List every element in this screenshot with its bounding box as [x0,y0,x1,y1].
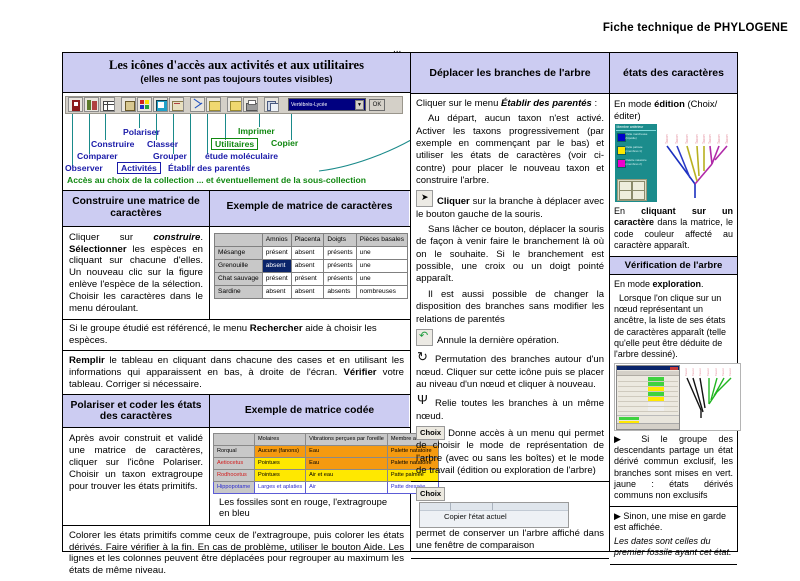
label-etablir-parentes: Établir des parentés [168,163,250,173]
svg-text:Taxon: Taxon [725,135,729,145]
table-row[interactable]: Chat sauvage présent présent présents un… [215,273,408,286]
matrix-cell[interactable]: une [356,246,407,259]
table-header-row: Amnios Placenta Doigts Pièces basales [215,233,408,246]
character-legend-panel: Membre antérieur Patte marcheuse (bipédi… [615,124,657,202]
matrix-cell[interactable]: une [356,260,407,273]
label-copier: Copier [271,138,298,148]
legend-swatch-0 [617,133,626,142]
chevron-down-icon[interactable]: ▼ [355,100,364,110]
leader-moleculaire [207,114,208,154]
toolbar-separator-3 [222,98,226,112]
remplir-bold: Remplir [69,355,105,366]
matrix-row-name: Chat sauvage [215,273,263,286]
grouper-icon[interactable] [169,97,184,112]
copier-etat-menu-item[interactable]: Copier l'état actuel [444,512,507,522]
etablir-menu-name: Établir des parentés [501,98,592,109]
coded-cell[interactable]: Pointues [255,458,306,470]
polariser-header-row: Polariser et coder les états des caractè… [63,395,410,428]
mise-en-garde-paragraph: ▶ Sinon, une mise en garde est affichée. [614,511,733,533]
leader-polariser [139,114,140,128]
coded-matrix-table[interactable]: Molaires Vibrations perçues par l'oreill… [213,433,439,493]
matrix-row-name: Mésange [215,246,263,259]
construire-text-2: . [200,232,203,243]
imprimer-icon[interactable] [243,97,258,112]
construire-text-1: Cliquer sur [69,232,153,243]
ok-button[interactable]: OK [369,99,385,111]
cursor-arrow-icon: ➤ [416,190,433,207]
label-imprimer: Imprimer [238,126,275,136]
relier-paragraph: ΨRelie toutes les branches à un même nœu… [416,394,604,423]
toolbar-dropdown-arrow-2[interactable] [280,98,284,112]
polariser-body-row: Après avoir construit et validé une matr… [63,428,410,526]
toolbar-separator [116,98,120,112]
label-polariser: Polariser [123,127,160,137]
legend-swatch-1 [617,146,626,155]
matrix-cell[interactable]: nombreuses [356,286,407,299]
edition-text-a: En mode [614,98,654,109]
construire-bold-selectionner: Sélectionner [69,244,127,255]
coded-row-name: Rodhocetus [214,470,255,482]
remplir-note-row: Remplir le tableau en cliquant dans chac… [63,351,410,395]
exploration-mode-line: En mode exploration. [614,279,733,290]
svg-text:Taxon: Taxon [702,135,706,145]
permutation-text: Permutation des branches autour d'un nœu… [416,354,604,390]
exploration-text-c: . [701,279,704,289]
svg-text:Taxon: Taxon [685,135,689,145]
fiche-technique-page: Fiche technique de PHYLOGENE ... Les icô… [0,0,800,566]
coded-col-2: Vibrations perçues par l'oreille [306,434,388,446]
left-header-line2: (elles ne sont pas toujours toutes visib… [67,74,406,86]
character-matrix-table[interactable]: Amnios Placenta Doigts Pièces basales Mé… [214,233,408,300]
copier-etat-screenshot[interactable]: Copier l'état actuel [419,502,569,528]
edition-bold: édition [654,98,685,109]
matrix-cell[interactable]: absents [324,286,356,299]
construire-body-row: Cliquer sur construire. Sélectionner les… [63,227,410,321]
verification-block: En mode exploration. Lorsque l'on clique… [610,275,737,506]
matrix-cell[interactable]: présent [262,246,291,259]
legend-swatch-2 [617,159,626,168]
undo-arrow-icon[interactable]: ↶ [416,329,433,346]
svg-text:Taxon: Taxon [691,368,695,376]
right-column-header: états des caractères [610,53,737,94]
toolbar-separator-2 [185,98,189,112]
matrix-col-1: Amnios [262,233,291,246]
etablir-text-a: Cliquer sur le menu [416,98,501,109]
mise-en-garde-block: ▶ Sinon, une mise en garde est affichée.… [610,507,737,564]
leader-copier [291,114,292,140]
construire-icon[interactable] [100,97,115,112]
coded-cell[interactable]: Pointues [255,470,306,482]
comparer-icon[interactable] [84,97,99,112]
classer-icon[interactable] [153,97,168,112]
toolbar-illustration: Vertébrés-Lycée ▼ OK ◥ Polarise [63,93,410,191]
label-construire: Construire [91,139,134,149]
verification-header: Vérification de l'arbre [610,256,737,275]
menu-bar-strip [420,503,568,511]
coded-cell[interactable]: Eau [306,446,388,458]
exploration-text-a: En mode [614,279,653,289]
matrix-cell[interactable]: présent [291,273,324,286]
coded-col-1: Molaires [255,434,306,446]
svg-text:Taxon: Taxon [684,368,688,376]
svg-text:Taxon: Taxon [728,368,732,376]
svg-text:Taxon: Taxon [698,368,702,376]
copier-etat-paragraph: Choix Copier l'état actuel permet de con… [416,487,604,552]
cliquer-branche-paragraph: ➤Cliquer sur la branche à déplacer avec … [416,190,604,221]
column-right: états des caractères En mode édition (Ch… [610,53,737,551]
relier-text: Relie toutes les branches à un même nœud… [416,398,604,421]
middle-divider-2 [411,558,609,559]
phylogene-toolbar[interactable]: Vertébrés-Lycée ▼ OK [65,96,403,114]
legend-title: Membre antérieur [617,125,644,129]
matrix-row-name: Grenouille [215,260,263,273]
polariser-prep-icon[interactable] [121,97,136,112]
matrix-col-3: Doigts [324,233,356,246]
leader-utilitaires [225,114,226,140]
colorer-instructions: Colorer les états primitifs comme ceux d… [63,526,410,581]
permutation-paragraph: ↻Permutation des branches autour d'un nœ… [416,350,604,391]
click-character-paragraph: En cliquant sur un caractère dans la mat… [614,206,733,251]
noeud-ancetre-paragraph: Lorsque l'on clique sur un nœud représen… [614,293,733,360]
leader-construire [105,114,106,140]
polariser-instructions: Après avoir construit et validé une matr… [63,428,210,525]
matrix-cell[interactable]: présents [324,246,356,259]
click-text-a: En [614,206,641,216]
label-comparer: Comparer [77,151,118,161]
etude-moleculaire-icon[interactable] [206,97,221,112]
svg-text:Taxon: Taxon [675,135,679,145]
table-row[interactable]: Grenouille absent absent présents une [215,260,408,273]
svg-text:Taxon: Taxon [717,135,721,145]
label-utilitaires: Utilitaires [211,138,258,150]
legend-label-2: Palette natatoire (membres 2) [626,159,654,166]
collection-combobox[interactable]: Vertébrés-Lycée ▼ [288,98,366,111]
matrix-col-0 [215,233,263,246]
choix-button-2[interactable]: Choix [416,487,445,501]
edition-tree-screenshot[interactable]: Membre antérieur Patte marcheuse (bipédi… [615,124,733,202]
polariser-example-header: Exemple de matrice codée [210,395,409,427]
coded-row-name: Hippopotame [214,481,255,493]
choix-menu-paragraph: ChoixDonne accès à un menu qui permet de… [416,426,604,477]
close-icon [670,367,678,370]
rechercher-note: Si le groupe étudié est référencé, le me… [63,320,410,350]
construire-header: Construire une matrice de caractères [63,191,210,226]
deplacer-souris-paragraph: Sans lâcher ce bouton, déplacer la souri… [416,224,604,286]
dates-note: Les dates sont celles du premier fossile… [614,536,733,558]
coded-matrix-cell: Molaires Vibrations perçues par l'oreill… [210,428,409,525]
construire-em: construire [153,232,200,243]
svg-text:Taxon: Taxon [714,368,718,376]
disposition-branches-paragraph: Il est aussi possible de changer la disp… [416,289,604,326]
rotate-branches-icon[interactable]: ↻ [416,350,431,365]
table-row[interactable]: Rorqual Aucune (fanons) Eau Palette nata… [214,446,439,458]
rechercher-menu-name: Rechercher [250,323,303,334]
svg-text:Taxon: Taxon [695,135,699,145]
legend-toolbox[interactable] [617,179,647,201]
legend-label-1: Patte palmée (membres 1) [626,146,654,153]
remplir-note: Remplir le tableau en cliquant dans chac… [63,351,410,394]
copier-etat-text: permet de conserver un l'arbre affiché d… [416,528,604,551]
coded-row-name: Aetiocetus [214,458,255,470]
rechercher-note-row: Si le groupe étudié est référencé, le me… [63,320,410,351]
activation-taxons-paragraph: Au départ, aucun taxon n'est activé. Act… [416,113,604,187]
matrix-cell[interactable]: présents [324,260,356,273]
utilitaires-icon[interactable] [227,97,242,112]
svg-text:Taxon: Taxon [665,135,669,145]
leader-observer [72,114,73,167]
column-middle: Déplacer les branches de l'arbre Cliquer… [411,53,610,551]
vert-branches-paragraph: ▶ Si le groupe des descendants partage u… [614,434,733,501]
character-matrix-cell: Amnios Placenta Doigts Pièces basales Mé… [210,227,409,320]
matrix-cell-selected[interactable]: absent [262,260,291,273]
collection-pointer-curve [313,113,410,175]
window-menubar [617,371,679,376]
label-observer: Observer [65,163,103,173]
coded-cell[interactable]: Eau [306,458,388,470]
column-left: Les icônes d'accès aux activités et aux … [63,53,411,551]
leader-comparer [89,114,90,154]
etablir-text-c: : [592,98,597,109]
legend-label-0: Patte marcheuse (bipédie) [626,133,654,140]
observer-icon[interactable] [68,97,83,112]
leader-etablir [190,114,191,167]
svg-text:Taxon: Taxon [706,368,710,376]
coded-cell[interactable]: Air et eau [306,470,388,482]
matrix-cell[interactable]: absent [291,286,324,299]
middle-column-header: Déplacer les branches de l'arbre [411,53,609,94]
toolbar-dropdown-arrow-1[interactable] [259,98,263,112]
states-window [616,365,680,430]
choix-button[interactable]: Choix [416,426,445,440]
rechercher-note-a: Si le groupe étudié est référencé, le me… [69,323,250,334]
exploration-tree: Taxon Taxon Taxon Taxon Taxon Taxon Taxo… [679,366,739,424]
copier-etat-block: Choix Copier l'état actuel permet de con… [411,482,609,552]
table-row[interactable]: Rodhocetus Pointues Air et eau Patte pal… [214,470,439,482]
edition-mode-block: En mode édition (Choix/éditer) Membre an… [610,94,737,256]
annuler-text: Annule la dernière opération. [437,335,559,346]
matrix-cell[interactable]: absent [291,246,324,259]
table-row[interactable]: Aetiocetus Pointues Eau Palette natatoir… [214,458,439,470]
toolbar-caption: Accès au choix de la collection ... et é… [67,175,366,185]
coded-cell[interactable]: Aucune (fanons) [255,446,306,458]
edition-mode-line: En mode édition (Choix/éditer) [614,98,733,121]
table-row[interactable]: Mésange présent absent présents une [215,246,408,259]
table-row[interactable]: Sardine absent absent absents nombreuses [215,286,408,299]
matrix-row-name: Sardine [215,286,263,299]
matrix-cell[interactable]: absent [291,260,324,273]
construire-example-header: Exemple de matrice de caractères [210,191,409,226]
matrix-col-2: Placenta [291,233,324,246]
exploration-screenshot[interactable]: Taxon Taxon Taxon Taxon Taxon Taxon Taxo… [614,363,741,431]
main-table: Les icônes d'accès aux activités et aux … [62,52,738,552]
coded-matrix-caption: Les fossiles sont en rouge, l'extragroup… [213,495,406,523]
etablir-parentes-paragraph: Cliquer sur le menu Établir des parentés… [416,98,604,110]
label-grouper: Grouper [153,151,187,161]
document-title: Fiche technique de PHYLOGENE [603,22,788,34]
legend-divider [616,130,656,131]
label-activites: Activités [117,162,161,174]
phylogenetic-tree-edition: Taxon Taxon Taxon Taxon Taxon Taxon Taxo… [657,124,733,202]
exploration-bold: exploration [653,279,702,289]
matrix-cell[interactable]: présent [262,273,291,286]
construire-instructions: Cliquer sur construire. Sélectionner les… [63,227,210,320]
coded-col-0 [214,434,255,446]
left-column-header: Les icônes d'accès aux activités et aux … [63,53,410,93]
coded-row-name: Rorqual [214,446,255,458]
annuler-paragraph: ↶Annule la dernière opération. [416,329,604,347]
table-row[interactable]: Hippopotame Larges et aplaties Air Patte… [214,481,439,493]
matrix-cell[interactable]: absent [262,286,291,299]
merge-branches-icon[interactable]: Ψ [416,394,431,409]
collection-combobox-value: Vertébrés-Lycée [289,102,327,108]
table-header-row: Molaires Vibrations perçues par l'oreill… [214,434,439,446]
label-classer: Classer [147,139,178,149]
svg-text:Taxon: Taxon [721,368,725,376]
cliquer-bold: Cliquer [437,196,470,207]
window-statusbar [617,423,679,429]
window-titlebar [617,366,679,370]
verifier-bold: Vérifier [343,367,376,378]
middle-column-body: Cliquer sur le menu Établir des parentés… [411,94,609,477]
construire-header-row: Construire une matrice de caractères Exe… [63,191,410,227]
coded-cell[interactable]: Air [306,481,388,493]
state-row [618,407,678,412]
right-divider-2 [610,564,737,565]
etablir-parentes-icon[interactable] [190,97,205,112]
matrix-col-4: Pièces basales [356,233,407,246]
colorer-row: Colorer les états primitifs comme ceux d… [63,526,410,581]
left-header-line1: Les icônes d'accès aux activités et aux … [67,58,406,74]
matrix-cell[interactable]: une [356,273,407,286]
polariser-header: Polariser et coder les états des caractè… [63,395,210,427]
copier-icon[interactable] [264,97,279,112]
coded-cell[interactable]: Larges et aplaties [255,481,306,493]
polariser-icon[interactable] [137,97,152,112]
label-etude-moleculaire: étude moléculaire [205,151,278,161]
matrix-cell[interactable]: présents [324,273,356,286]
svg-text:Taxon: Taxon [708,135,712,145]
